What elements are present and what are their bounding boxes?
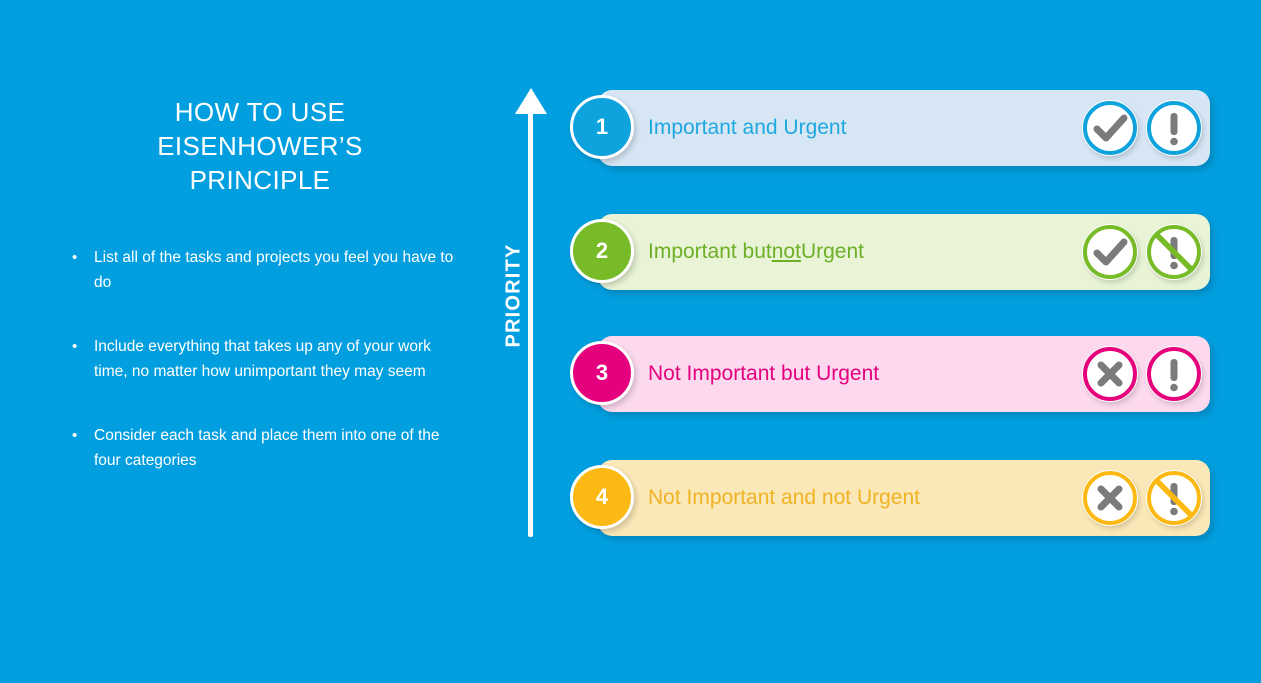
left-panel: HOW TO USE EISENHOWER’S PRINCIPLE •List … [60,95,460,565]
cross-icon [1082,470,1138,526]
quadrant-number-badge: 4 [570,465,634,529]
quadrant-label-suffix: Urgent [801,240,864,264]
priority-axis: PRIORITY [485,88,575,548]
quadrant-icons [1082,214,1202,290]
check-icon [1082,224,1138,280]
list-item: •Consider each task and place them into … [60,423,460,473]
bullet-dot-icon: • [60,245,94,270]
exclamation-not-icon [1146,470,1202,526]
exclamation-icon [1146,100,1202,156]
quadrant-icons [1082,90,1202,166]
quadrant-icons [1082,460,1202,536]
cross-icon [1082,346,1138,402]
list-item: •List all of the tasks and projects you … [60,245,460,295]
exclamation-icon [1146,346,1202,402]
quadrant-label: Important and Urgent [648,90,846,166]
page-title: HOW TO USE EISENHOWER’S PRINCIPLE [60,95,460,197]
quadrant-label-text: Not Important and not Urgent [648,486,920,510]
bullet-dot-icon: • [60,334,94,359]
slide-canvas: HOW TO USE EISENHOWER’S PRINCIPLE •List … [0,0,1261,683]
quadrant-row[interactable]: Important but not Urgent2 [570,214,1210,290]
quadrant-number-badge: 2 [570,219,634,283]
quadrant-icons [1082,336,1202,412]
list-item-text: List all of the tasks and projects you f… [94,245,460,295]
quadrant-number-badge: 1 [570,95,634,159]
priority-axis-label: PRIORITY [503,236,526,356]
bullet-dot-icon: • [60,423,94,448]
quadrant-label-emphasis: not [772,240,801,264]
arrow-shaft [528,110,533,537]
quadrant-label-prefix: Important but [648,240,772,264]
quadrant-label: Not Important but Urgent [648,336,879,412]
quadrant-label: Important but not Urgent [648,214,864,290]
quadrant-label-text: Important and Urgent [648,116,846,140]
quadrant-label-text: Not Important but Urgent [648,362,879,386]
list-item-text: Consider each task and place them into o… [94,423,460,473]
check-icon [1082,100,1138,156]
quadrant-number-badge: 3 [570,341,634,405]
quadrant-rows: Important and Urgent1Important but not U… [570,90,1210,550]
list-item-text: Include everything that takes up any of … [94,334,460,384]
quadrant-row[interactable]: Not Important and not Urgent4 [570,460,1210,536]
exclamation-not-icon [1146,224,1202,280]
quadrant-row[interactable]: Not Important but Urgent3 [570,336,1210,412]
quadrant-label: Not Important and not Urgent [648,460,920,536]
list-item: •Include everything that takes up any of… [60,334,460,384]
bullet-list: •List all of the tasks and projects you … [60,245,460,473]
quadrant-row[interactable]: Important and Urgent1 [570,90,1210,166]
